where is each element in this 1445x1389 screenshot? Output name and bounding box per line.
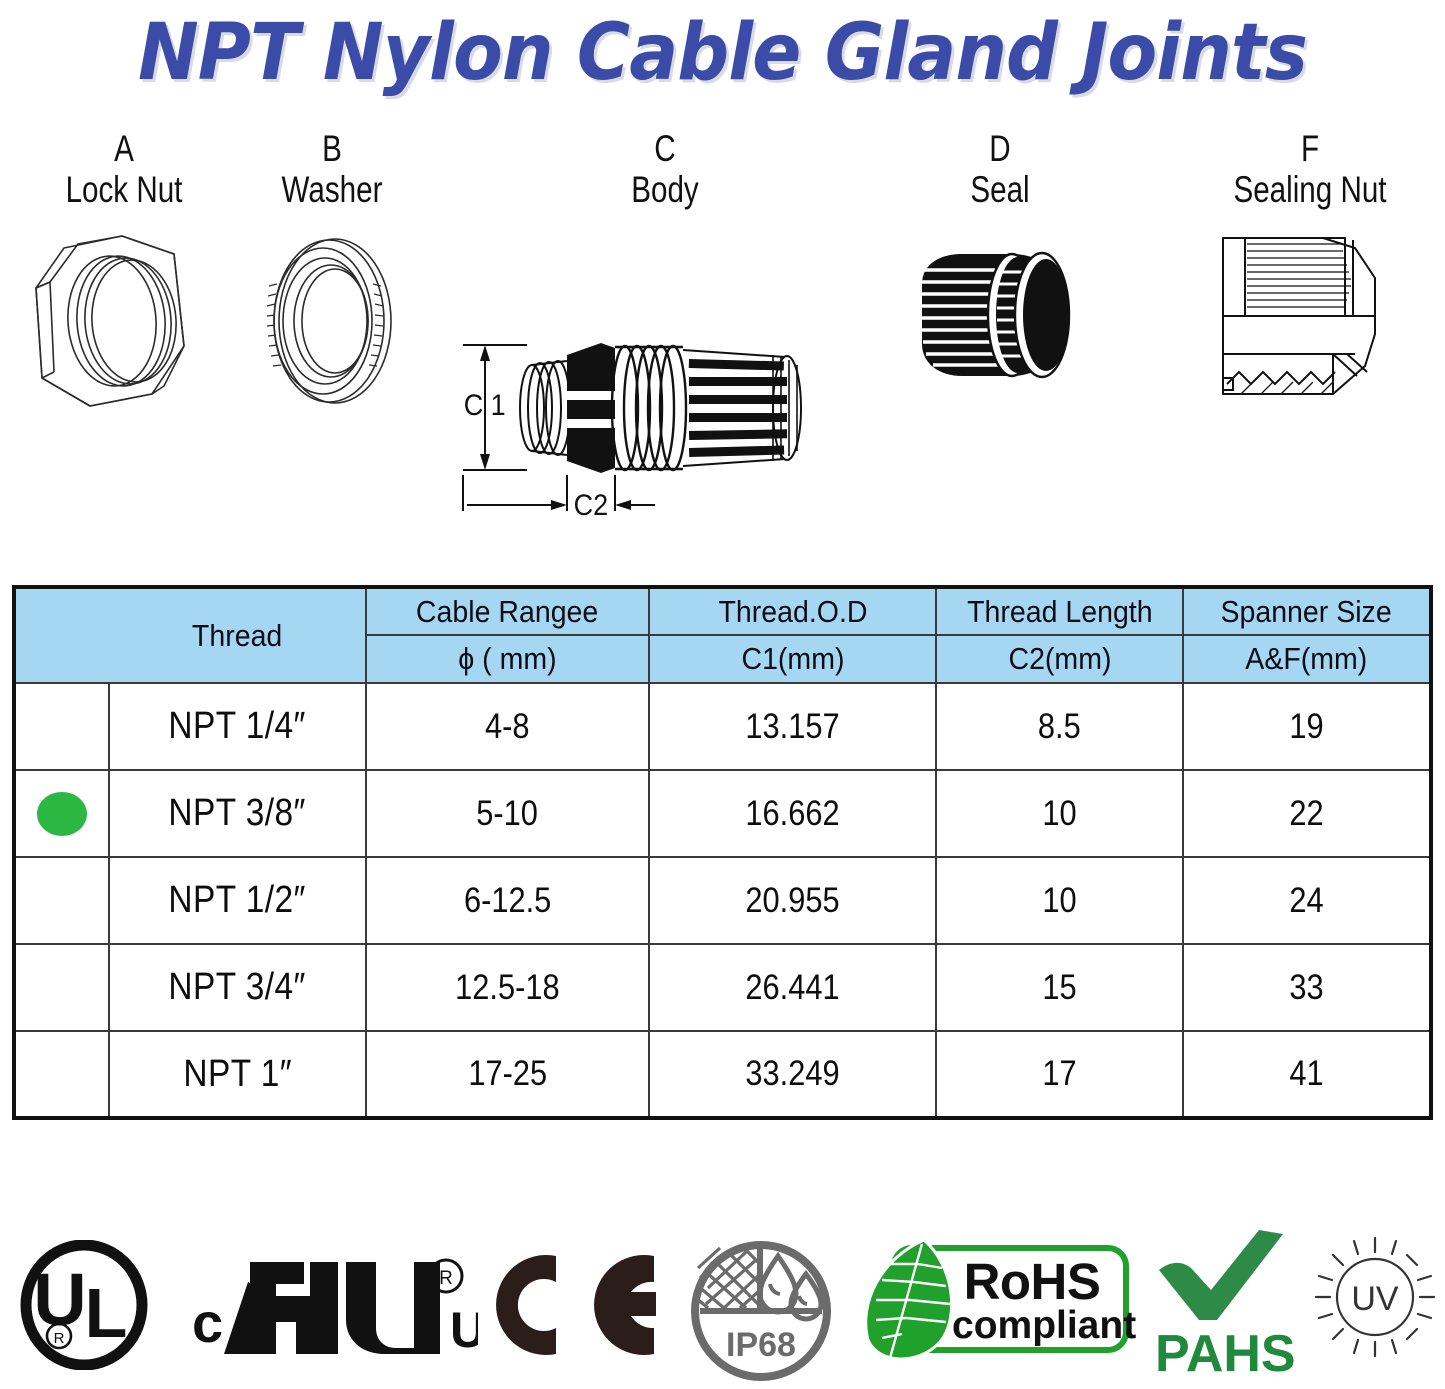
cell-thread: NPT 1/2″ [109,857,366,944]
part-sealing-nut: F Sealing Nut [1180,130,1440,406]
cell-thread-length: 15 [936,944,1183,1031]
cell-thread-length: 10 [936,857,1183,944]
table-header: Thread Cable Rangee Thread.O.D Thread Le… [14,587,1431,683]
part-letter: C [549,130,781,169]
cell-spanner-size: 33 [1183,944,1431,1031]
selected-dot [37,792,87,836]
table-row: NPT 3/4″ 12.5-18 26.441 15 33 [14,944,1431,1031]
certification-strip: U L R c R US [0,1222,1445,1379]
cell-thread: NPT 1/4″ [109,683,366,770]
header-thread-od-unit: C1(mm) [649,635,936,683]
part-seal: D Seal [890,130,1110,406]
part-letter: F [1206,130,1414,169]
body-drawing-with-dimensions: C 1 [455,315,845,535]
svg-text:R: R [439,1268,453,1289]
sealing-nut-drawing [1180,226,1440,406]
ip68-text: IP68 [726,1326,796,1364]
rohs-mark: RoHS compliant [856,1234,1141,1364]
uv-text: UV [1351,1280,1399,1318]
cell-thread: NPT 3/4″ [109,944,366,1031]
table-row: NPT 3/8″ 5-10 16.662 10 22 [14,770,1431,857]
ce-mark [494,1250,684,1360]
pahs-mark: PAHS [1155,1228,1295,1384]
row-marker [14,944,109,1031]
row-marker [14,770,109,857]
title-banner: NPT Nylon Cable Gland Joints [0,0,1445,105]
part-washer: B Washer [222,130,442,416]
cell-cable-range: 17-25 [366,1031,649,1118]
header-cable-range-unit: ϕ ( mm) [366,635,649,683]
cell-spanner-size: 22 [1183,770,1431,857]
header-thread-length: Thread Length [936,587,1183,635]
cell-cable-range: 12.5-18 [366,944,649,1031]
culus-mark: c R US [178,1244,478,1371]
washer-drawing [222,226,442,416]
seal-drawing [890,226,1110,406]
svg-text:R: R [54,1330,65,1347]
row-marker [14,857,109,944]
svg-text:C2: C2 [574,489,608,523]
svg-text:US: US [450,1302,478,1358]
culus-recognized-mark: c R US [178,1244,478,1366]
svg-text:c: c [192,1291,223,1354]
part-label: Sealing Nut [1206,169,1414,210]
cell-cable-range: 6-12.5 [366,857,649,944]
lock-nut-drawing [8,226,240,416]
cell-thread-od: 33.249 [649,1031,936,1118]
part-label: Lock Nut [31,169,217,210]
header-thread: Thread [109,587,366,683]
pahs-label: PAHS [1155,1324,1295,1384]
table-row: NPT 1/4″ 4-8 13.157 8.5 19 [14,683,1431,770]
uv-sun-mark: UV [1310,1232,1440,1362]
uv-mark: UV [1310,1232,1440,1367]
row-marker [14,683,109,770]
cell-thread-length: 10 [936,770,1183,857]
part-label: Seal [912,169,1088,210]
table-row: NPT 1″ 17-25 33.249 17 41 [14,1031,1431,1118]
ip68-mark: IP68 [686,1238,836,1389]
header-spanner-size-unit: A&F(mm) [1183,635,1431,683]
cell-thread-od: 13.157 [649,683,936,770]
cell-thread: NPT 1″ [109,1031,366,1118]
svg-text:U: U [33,1258,86,1341]
header-row-top: Thread Cable Rangee Thread.O.D Thread Le… [14,587,1431,635]
table-row: NPT 1/2″ 6-12.5 20.955 10 24 [14,857,1431,944]
specification-table: Thread Cable Rangee Thread.O.D Thread Le… [12,585,1433,1120]
ul-circle-mark: U L R [16,1240,156,1370]
header-cable-range: Cable Rangee [366,587,649,635]
svg-text:L: L [85,1274,128,1352]
cell-cable-range: 5-10 [366,770,649,857]
rohs-sublabel: compliant [952,1306,1112,1345]
cell-thread-length: 8.5 [936,683,1183,770]
part-label: Washer [244,169,420,210]
rohs-label: RoHS [952,1258,1112,1306]
cell-spanner-size: 24 [1183,857,1431,944]
row-marker [14,1031,109,1118]
cell-thread-length: 17 [936,1031,1183,1118]
header-thread-od: Thread.O.D [649,587,936,635]
cell-spanner-size: 41 [1183,1031,1431,1118]
table-body: NPT 1/4″ 4-8 13.157 8.5 19 NPT 3/8″ 5-10… [14,683,1431,1118]
parts-diagram: A Lock Nut B Wa [0,130,1445,550]
part-label: Body [549,169,781,210]
cell-thread-od: 26.441 [649,944,936,1031]
part-letter: A [31,130,217,169]
cell-spanner-size: 19 [1183,683,1431,770]
cell-thread-od: 20.955 [649,857,936,944]
svg-text:C 1: C 1 [464,389,506,423]
cell-thread-od: 16.662 [649,770,936,857]
cell-cable-range: 4-8 [366,683,649,770]
page-title: NPT Nylon Cable Gland Joints [138,8,1307,98]
part-lock-nut: A Lock Nut [8,130,240,416]
part-letter: B [244,130,420,169]
header-thread-length-unit: C2(mm) [936,635,1183,683]
ul-mark: U L R [16,1240,156,1375]
part-body: C Body [520,130,810,210]
header-spanner-size: Spanner Size [1183,587,1431,635]
part-letter: D [912,130,1088,169]
cell-thread: NPT 3/8″ [109,770,366,857]
header-marker-column [14,587,109,683]
